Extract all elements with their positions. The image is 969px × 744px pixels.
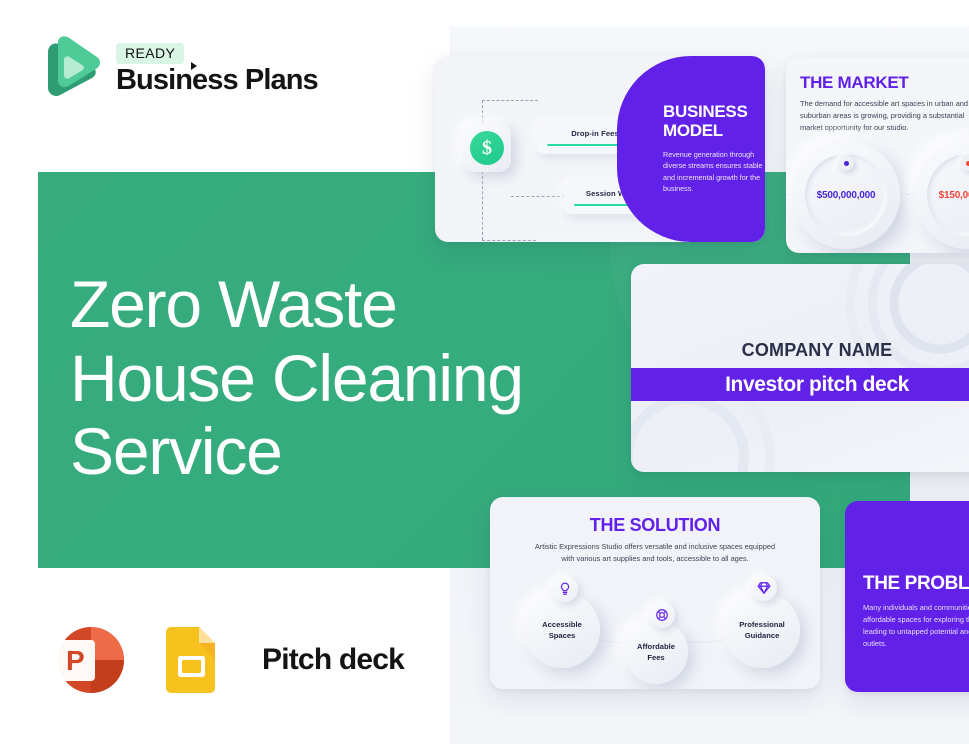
market-metrics: $500,000,000 Total Addressable Market (T… [792,141,969,253]
solution-title: THE SOLUTION [490,515,820,536]
slide-the-market[interactable]: THE MARKET The demand for accessible art… [786,57,969,253]
brand-logo[interactable]: READY Business Plans [40,36,318,100]
ready-badge: READY [116,43,184,64]
solution-node-label: Affordable Fees [624,620,688,684]
slide-company-name[interactable]: COMPANY NAME Investor pitch deck [631,264,969,472]
solution-node-label: Professional Guidance [724,592,800,668]
lifebuoy-icon [649,602,675,628]
solution-node-accessible-spaces[interactable]: Accessible Spaces [524,592,600,668]
google-slides-icon[interactable] [150,618,234,702]
problem-description: Many individuals and communities lack ac… [863,602,969,651]
brand-name-text: Business Plans [116,64,318,96]
company-subtitle-band: Investor pitch deck [631,368,969,401]
solution-node-affordable-fees[interactable]: Affordable Fees [624,620,688,684]
market-metric-tam[interactable]: $500,000,000 Total Addressable Market (T… [792,141,900,253]
bm-title: BUSINESS MODEL [663,102,763,140]
decorative-arcs-bottom-left [631,342,801,472]
company-subtitle: Investor pitch deck [725,373,909,397]
slide-the-solution[interactable]: THE SOLUTION Artistic Expressions Studio… [490,497,820,689]
bm-connector-top [482,100,538,101]
bm-description: Revenue generation through diverse strea… [663,149,763,195]
solution-node-professional-guidance[interactable]: Professional Guidance [724,592,800,668]
bm-dollar-node: $ [463,124,511,172]
market-metric-value: $150,000,000 [939,190,969,201]
market-title: THE MARKET [800,73,908,93]
bm-connector-bottom [482,240,536,241]
brand-name: Business Plans [116,65,318,95]
page-title: Zero Waste House Cleaning Service [70,268,523,489]
market-dot-icon [838,155,854,171]
play-triangles-logo-icon [40,36,102,100]
bm-purple-panel: BUSINESS MODEL Revenue generation throug… [617,56,765,242]
format-row: P Pitch deck [44,618,404,702]
market-description: The demand for accessible art spaces in … [800,98,969,134]
solution-node-label: Accessible Spaces [524,592,600,668]
market-dot-icon [960,155,969,171]
bm-connector-mid [511,196,565,197]
problem-title: THE PROBLEM [863,573,969,595]
format-label: Pitch deck [262,643,404,677]
page-stage: READY Business Plans Zero Waste House Cl… [0,0,969,744]
market-metric-sam[interactable]: $150,000,000 Serviceable Addressable Mar… [914,141,969,253]
slide-the-problem[interactable]: THE PROBLEM Many individuals and communi… [845,501,969,692]
powerpoint-icon[interactable]: P [44,618,128,702]
slide-business-model[interactable]: $ Drop-in Fees Session Workshops Commiss… [435,56,765,242]
lightbulb-icon [552,576,578,602]
diamond-icon [751,575,777,601]
company-name: COMPANY NAME [631,340,969,361]
market-metric-value: $500,000,000 [817,190,876,201]
svg-text:P: P [66,645,85,676]
background-top-notch [450,0,969,26]
solution-description: Artistic Expressions Studio offers versa… [528,541,782,566]
dollar-icon: $ [470,131,504,165]
brand-accent-triangle-icon [191,62,197,70]
